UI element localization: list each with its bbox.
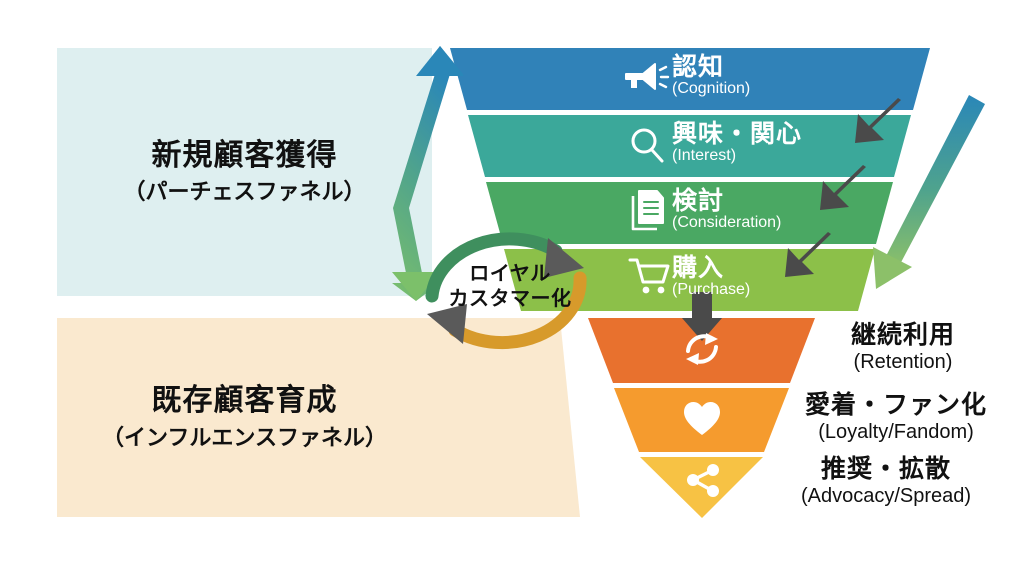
band-en-purchase: (Purchase) [672,282,750,299]
band-jp-interest: 興味・関心 [672,121,802,147]
band-label-purchase: 購入 (Purchase) [672,255,750,299]
cycle-label-line2: カスタマー化 [437,287,583,312]
outside-en-loyalty: (Loyalty/Fandom) [778,421,1014,443]
outside-en-retention: (Retention) [808,351,998,373]
band-jp-cognition: 認知 [672,54,750,80]
cycle-label-line1: ロイヤル [437,262,583,287]
band-jp-purchase: 購入 [672,255,750,281]
band-jp-consideration: 検討 [672,188,781,214]
band-label-interest: 興味・関心 (Interest) [672,121,802,165]
outside-en-advocacy: (Advocacy/Spread) [760,485,1012,507]
diagram-canvas: 新規顧客獲得 （パーチェスファネル） 既存顧客育成 （インフルエンスファネル） [0,0,1024,572]
band-en-cognition: (Cognition) [672,81,750,98]
band-en-interest: (Interest) [672,148,802,165]
outside-jp-loyalty: 愛着・ファン化 [778,392,1014,420]
band-label-cognition: 認知 (Cognition) [672,54,750,98]
loyal-customer-cycle-label: ロイヤル カスタマー化 [437,262,583,312]
band-en-consideration: (Consideration) [672,215,781,232]
outside-label-retention: 継続利用 (Retention) [808,322,998,373]
outside-jp-retention: 継続利用 [808,322,998,350]
funnel-band-advocacy[interactable] [640,457,763,518]
outside-label-advocacy: 推奨・拡散 (Advocacy/Spread) [760,456,1012,507]
band-label-consideration: 検討 (Consideration) [672,188,781,232]
outside-jp-advocacy: 推奨・拡散 [760,456,1012,484]
outside-label-loyalty: 愛着・ファン化 (Loyalty/Fandom) [778,392,1014,443]
